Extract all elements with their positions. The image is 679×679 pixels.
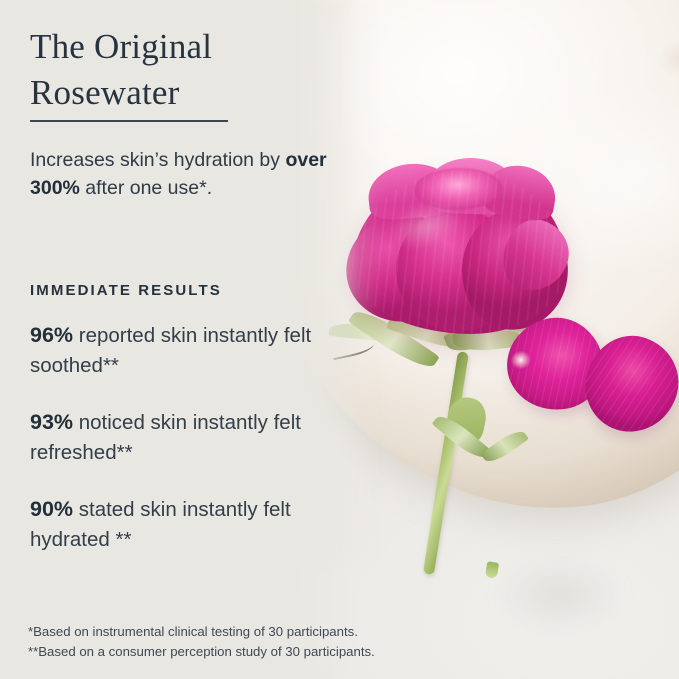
text-layer: The Original Rosewater Increases skin’s … [0,0,679,679]
stat-item: 90% stated skin instantly felt hydrated … [30,494,360,554]
stat-percent: 90% [30,497,73,521]
stat-text: reported skin instantly felt soothed** [30,324,311,377]
title-line-2: Rosewater [30,73,180,112]
stat-item: 93% noticed skin instantly felt refreshe… [30,407,360,467]
stat-item: 96% reported skin instantly felt soothed… [30,320,360,380]
subtitle-before: Increases skin’s hydration by [30,149,285,171]
footnotes: *Based on instrumental clinical testing … [28,622,498,662]
stat-percent: 96% [30,323,73,347]
title-line-1: The Original [30,27,212,66]
results-kicker: IMMEDIATE RESULTS [30,282,222,299]
subtitle: Increases skin’s hydration by over 300% … [30,147,360,202]
stat-percent: 93% [30,410,73,434]
footnote-1: *Based on instrumental clinical testing … [28,622,498,642]
subtitle-after: after one use*. [80,177,212,199]
page-title: The Original Rosewater [30,24,360,115]
ad-creative: The Original Rosewater Increases skin’s … [0,0,679,679]
footnote-2: **Based on a consumer perception study o… [28,642,498,662]
title-divider [30,120,228,122]
